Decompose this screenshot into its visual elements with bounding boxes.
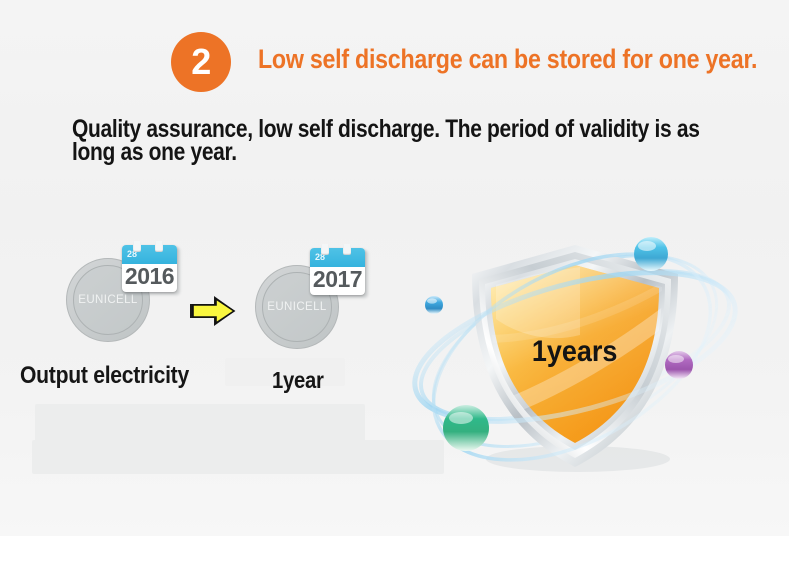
- step-caption-output-electricity: Output electricity: [20, 362, 189, 390]
- orb-blue-small: [425, 296, 443, 314]
- background-bottom-strip: [0, 536, 789, 561]
- orb-cyan: [634, 237, 668, 271]
- section-number-badge: 2: [171, 32, 231, 92]
- orb-purple: [665, 351, 693, 379]
- calendar-body: 28 2016: [122, 245, 177, 292]
- calendar-year-number: 2016: [122, 263, 177, 290]
- warranty-shield-graphic: 1years: [400, 215, 750, 485]
- placeholder-block: [32, 440, 444, 474]
- calendar-icon-2016: 28 2016: [122, 241, 180, 295]
- orb-green: [443, 405, 489, 451]
- calendar-year-number: 2017: [310, 266, 365, 293]
- placeholder-block: [35, 404, 365, 444]
- battery-brand-label: EUNICELL: [255, 301, 339, 313]
- calendar-ring-left: [133, 241, 141, 252]
- calendar-body: 28 2017: [310, 248, 365, 295]
- calendar-ring-right: [343, 244, 351, 255]
- promo-banner: 2 Low self discharge can be stored for o…: [0, 0, 789, 561]
- right-arrow-icon: [189, 294, 237, 328]
- shield-label-text: 1years: [532, 335, 618, 369]
- page-title: Low self discharge can be stored for one…: [258, 44, 757, 75]
- calendar-ring-right: [155, 241, 163, 252]
- step-caption-one-year: 1year: [272, 367, 324, 394]
- page-subtitle: Quality assurance, low self discharge. T…: [72, 118, 736, 165]
- calendar-icon-2017: 28 2017: [310, 244, 368, 298]
- battery-brand-label: EUNICELL: [66, 294, 150, 306]
- calendar-ring-left: [321, 244, 329, 255]
